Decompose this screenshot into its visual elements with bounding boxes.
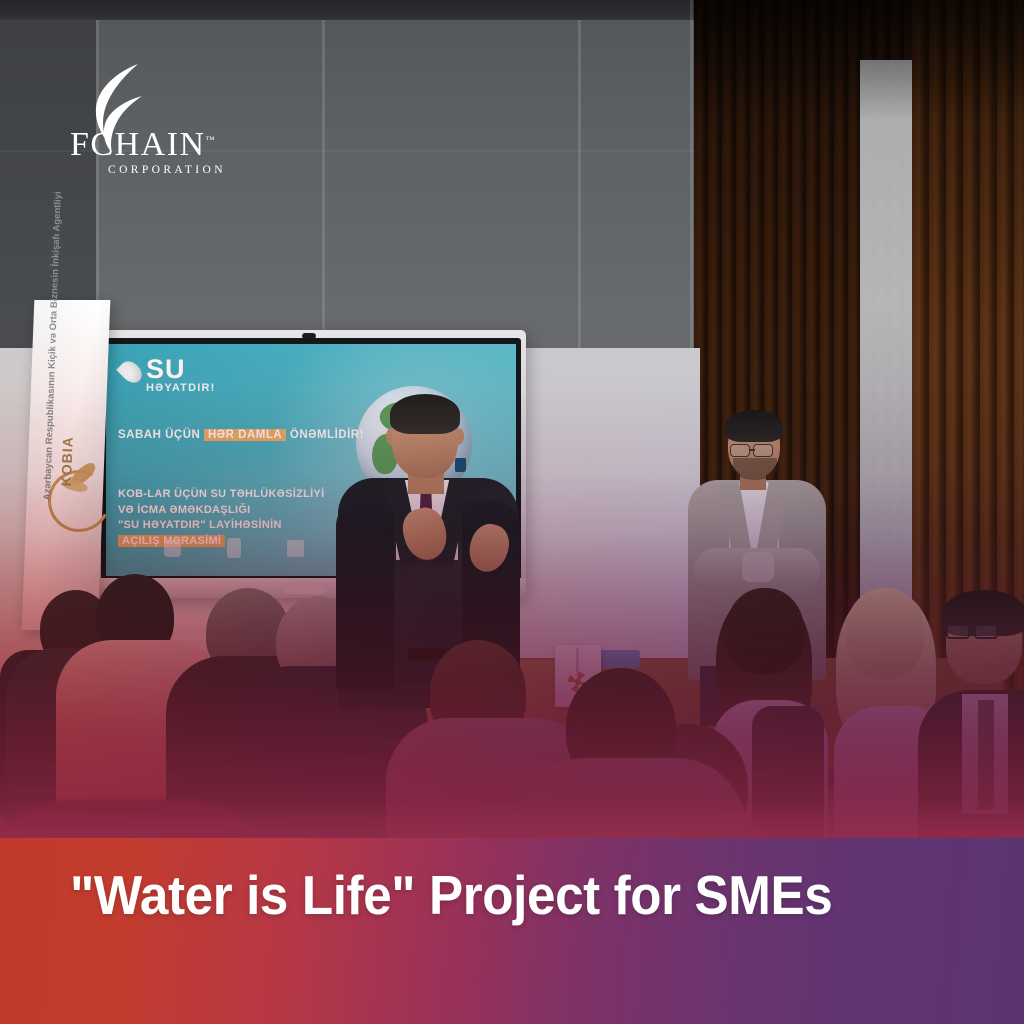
wall-seam	[578, 20, 581, 350]
page-title-rest: Project for SMEs	[415, 864, 832, 926]
slide-tagline-post: ÖNƏMLİDİR!	[286, 429, 364, 441]
wall-seam	[322, 20, 325, 350]
brand-logo-wordmark: FCHAIN™	[70, 128, 240, 162]
brand-logo-subtitle: CORPORATION	[108, 165, 240, 177]
standing-attendee-hair	[725, 410, 783, 442]
standing-attendee-beard	[733, 458, 777, 480]
standing-attendee-cuff	[742, 552, 774, 582]
glasses-icon	[730, 444, 750, 457]
partner-logo-3-icon	[287, 540, 304, 557]
brand-trademark: ™	[206, 135, 215, 145]
slide-logo-subtext: HƏYATDIR!	[146, 382, 216, 394]
attendee-tie	[978, 700, 994, 810]
partner-logo-2-icon	[227, 538, 241, 558]
kobia-banner-org: KOBIA	[58, 436, 76, 487]
slide-logo-text: SU	[146, 357, 216, 382]
slide-tagline-highlight: HƏR DAMLA	[204, 429, 286, 441]
wall-seam	[690, 0, 693, 352]
brand-logo[interactable]: FCHAIN™ CORPORATION	[70, 62, 240, 177]
page-title: "Water is Life" Project for SMEs	[70, 866, 907, 924]
glasses-icon	[946, 624, 970, 639]
attendee-head	[846, 588, 924, 678]
presenter-arm-left	[336, 500, 394, 690]
ceiling-shadow	[694, 0, 1024, 120]
table-flag-secondary	[600, 650, 640, 668]
glasses-bridge	[749, 449, 755, 451]
glasses-icon	[974, 624, 998, 639]
partner-logo-1-icon	[164, 540, 181, 557]
slide-tagline-pre: SABAH ÜÇÜN	[118, 429, 204, 441]
display-power-button	[285, 587, 327, 594]
promo-card: SU HƏYATDIR! SABAH ÜÇÜN HƏR DAMLA ÖNƏMLİ…	[0, 0, 1024, 1024]
slide-logo: SU HƏYATDIR!	[122, 357, 216, 394]
attendee-head	[726, 588, 804, 674]
page-title-quoted: "Water is Life"	[70, 864, 415, 926]
glasses-icon	[753, 444, 773, 457]
brand-name: FCHAIN	[70, 126, 206, 163]
presenter-hair	[390, 394, 460, 434]
slide-tagline: SABAH ÜÇÜN HƏR DAMLA ÖNƏMLİDİR!	[118, 427, 368, 444]
water-drop-icon	[116, 357, 146, 387]
